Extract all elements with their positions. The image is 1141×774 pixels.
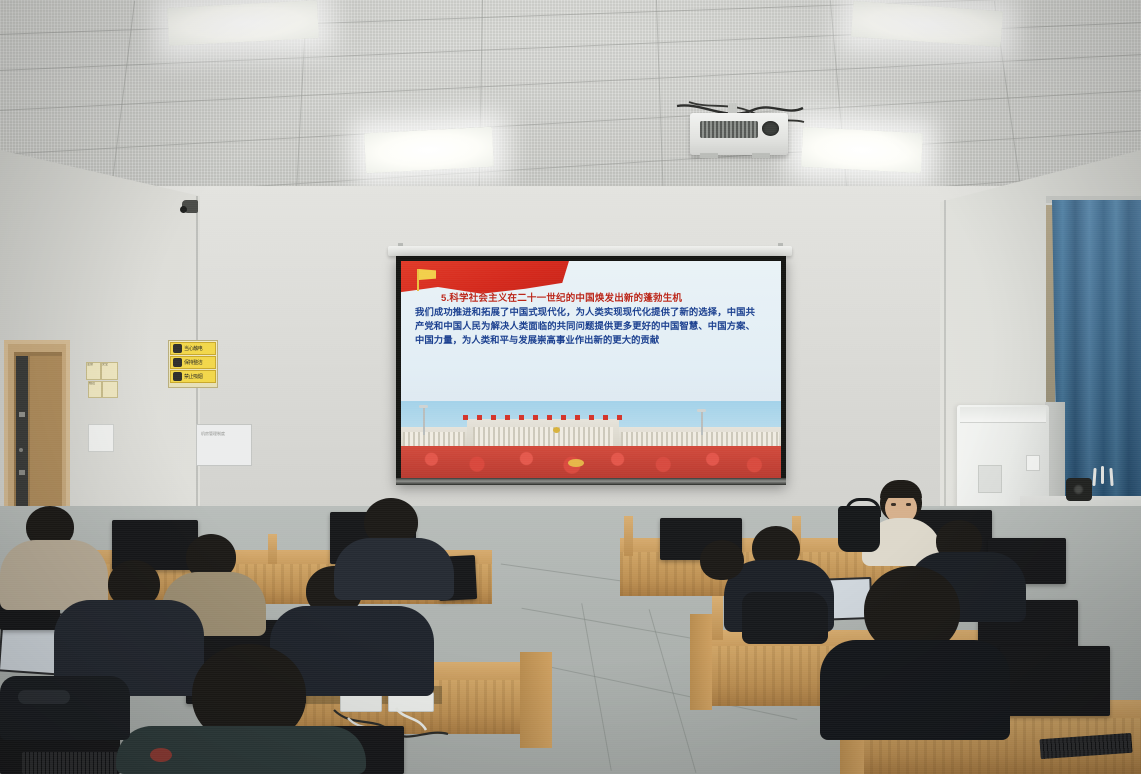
classroom-photo: 注意 安全 规范 当心触电 保持整洁 禁止吸烟 机房管理制度 [0, 0, 1141, 774]
mini-notice [102, 381, 118, 398]
fire-icon [173, 358, 182, 367]
national-emblem-icon [553, 427, 560, 433]
backpack [0, 676, 130, 740]
projection-screen-housing[interactable] [388, 246, 792, 256]
eye-icon [891, 503, 896, 506]
desk-side-panel [690, 614, 712, 710]
projector-foot [700, 153, 718, 158]
jacket-logo [150, 748, 172, 762]
sign-row: 保持整洁 [170, 356, 216, 369]
handbag-strap [845, 498, 881, 517]
ceiling-light-panel [364, 127, 494, 174]
flag-pole-icon [417, 269, 419, 291]
mini-notice: 规范 [88, 381, 102, 398]
door-sticker [19, 470, 25, 475]
desk-divider [712, 596, 723, 640]
safety-warning-sign: 当心触电 保持整洁 禁止吸烟 [168, 340, 218, 388]
hand-warning-icon [173, 344, 182, 353]
monitor [1000, 646, 1110, 716]
floor-tile-line [581, 603, 612, 771]
no-smoking-icon [173, 372, 182, 381]
device-lens-icon [1073, 484, 1084, 495]
backpack [742, 592, 828, 644]
person-body [820, 640, 1010, 740]
slide-body-text: 我们成功推进和拓展了中国式现代化，为人类实现现代化提供了新的选择，中国共产党和中… [415, 305, 755, 348]
slide-title: 5.科学社会主义在二十一世纪的中国焕发出新的蓬勃生机 [441, 290, 743, 304]
camera-lens-icon [180, 206, 187, 213]
desk-divider [624, 516, 633, 556]
ac-top-vent [960, 407, 1046, 423]
building-columns [473, 427, 613, 447]
screen-bottom-weight-bar [396, 478, 786, 485]
presentation-slide: 5.科学社会主义在二十一世纪的中国焕发出新的蓬勃生机 我们成功推进和拓展了中国式… [401, 261, 781, 479]
backpack-strap [18, 690, 70, 704]
slide-photograph [401, 401, 781, 479]
lamp-head [697, 409, 706, 412]
projector-lens-icon [762, 121, 779, 136]
desk-side-panel [520, 652, 552, 748]
ac-air-vent [978, 465, 1002, 493]
desk-divider [268, 534, 277, 564]
lamp-post [701, 409, 703, 435]
flag-row [463, 415, 625, 420]
eye-icon [906, 503, 911, 506]
wall-notice-board: 机房管理制度 [196, 424, 252, 466]
curtain-shading [1052, 200, 1141, 510]
lamp-head [419, 405, 428, 408]
sign-row: 禁止吸烟 [170, 370, 216, 383]
ac-label [1026, 455, 1040, 471]
sign-row: 当心触电 [170, 342, 216, 355]
ceiling-light-panel [801, 127, 923, 173]
flag-icon [419, 269, 436, 280]
projector-foot [752, 153, 770, 158]
mini-notice: 注意 [86, 362, 101, 380]
projector-vent [700, 121, 758, 138]
flower-bed [401, 446, 781, 479]
mini-notice: 安全 [101, 362, 118, 380]
person-body [334, 538, 454, 600]
wall-notice-text: 机房管理制度 [197, 425, 251, 443]
lamp-post [423, 405, 425, 435]
door-sticker [19, 412, 25, 417]
keyboard[interactable] [22, 752, 118, 774]
person-head [700, 540, 744, 580]
door-sticker [19, 448, 23, 452]
wall-notices: 注意 安全 规范 [86, 362, 116, 418]
antenna-icon [1101, 466, 1104, 484]
projection-screen: 5.科学社会主义在二十一世纪的中国焕发出新的蓬勃生机 我们成功推进和拓展了中国式… [396, 256, 786, 484]
wall-corner-right [944, 200, 946, 510]
ceiling-light-panel [167, 0, 319, 46]
wall-card [88, 424, 114, 452]
